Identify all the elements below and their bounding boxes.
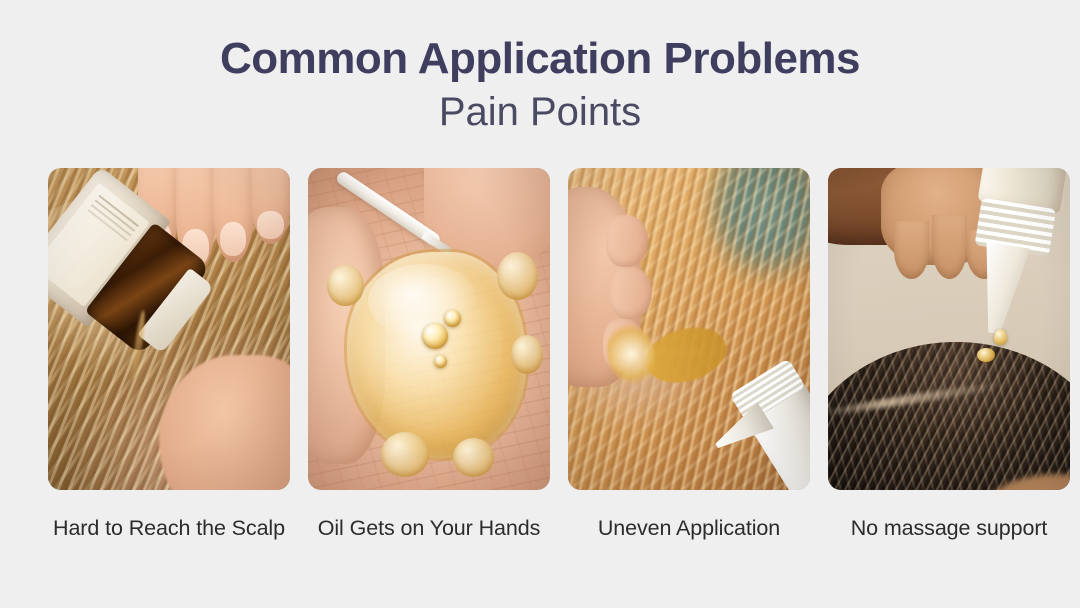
pain-point-card: Oil Gets on Your Hands xyxy=(308,168,550,541)
hair-strands-texture xyxy=(828,342,1070,490)
pain-point-card-row: Hard to Reach the Scalp Oil Gets on Yo xyxy=(48,168,1043,541)
pain-point-card: Uneven Application xyxy=(568,168,810,541)
card-caption: Uneven Application xyxy=(568,516,810,541)
pain-point-card: Hard to Reach the Scalp xyxy=(48,168,290,541)
page-subtitle: Pain Points xyxy=(0,89,1080,135)
oil-lobe xyxy=(497,252,538,300)
card-caption: No massage support xyxy=(828,516,1070,541)
oil-lobe xyxy=(511,335,542,374)
oil-lobe xyxy=(381,432,429,477)
photo-hard-to-reach-scalp xyxy=(48,168,290,490)
card-caption: Oil Gets on Your Hands xyxy=(308,516,550,541)
photo-oil-on-hands xyxy=(308,168,550,490)
dark-hair-head xyxy=(828,342,1070,490)
oil-bubble xyxy=(444,310,461,327)
card-caption: Hard to Reach the Scalp xyxy=(48,516,290,541)
page-title: Common Application Problems xyxy=(0,34,1080,83)
oil-bubble xyxy=(422,323,448,349)
bottle-nozzle-tip xyxy=(972,242,1030,337)
oil-lobe xyxy=(327,265,363,307)
header: Common Application Problems Pain Points xyxy=(0,0,1080,135)
pain-point-card: No massage support xyxy=(828,168,1070,541)
photo-uneven-application xyxy=(568,168,810,490)
oil-bubble xyxy=(434,355,447,368)
photo-no-massage-support xyxy=(828,168,1070,490)
falling-oil-drop xyxy=(994,329,1007,345)
slide-root: Common Application Problems Pain Points xyxy=(0,0,1080,608)
